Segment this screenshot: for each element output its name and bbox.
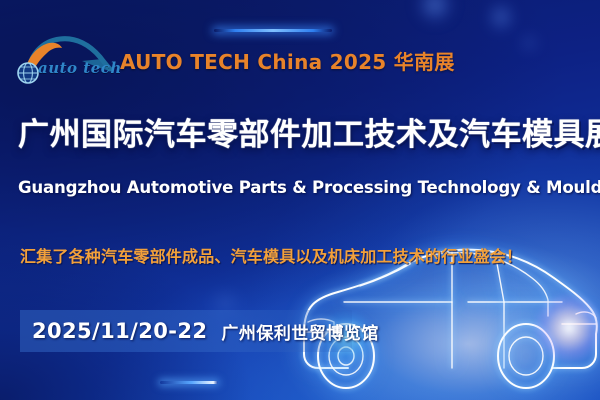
auto-tech-logo: auto tech: [16, 33, 112, 87]
event-venue: 广州保利世贸博览馆: [221, 319, 379, 344]
tagline-chinese: 汇集了各种汽车零部件成品、汽车模具以及机床加工技术的行业盛会！: [20, 243, 586, 267]
logo-wordmark: auto tech: [38, 59, 122, 77]
subheadline-english: Guangzhou Automotive Parts & Processing …: [18, 178, 584, 197]
event-date: 2025/11/20-22: [32, 319, 207, 343]
expo-banner: auto tech AUTO TECH China 2025 华南展 广州国际汽…: [0, 0, 600, 400]
headline-chinese: 广州国际汽车零部件加工技术及汽车模具展览会: [18, 118, 584, 152]
decorative-glow-streak: [160, 381, 218, 384]
logo-row: auto tech AUTO TECH China 2025 华南展: [16, 32, 455, 88]
event-name: AUTO TECH China 2025 华南展: [120, 46, 455, 75]
date-venue-band: 2025/11/20-22 广州保利世贸博览馆: [20, 310, 352, 352]
